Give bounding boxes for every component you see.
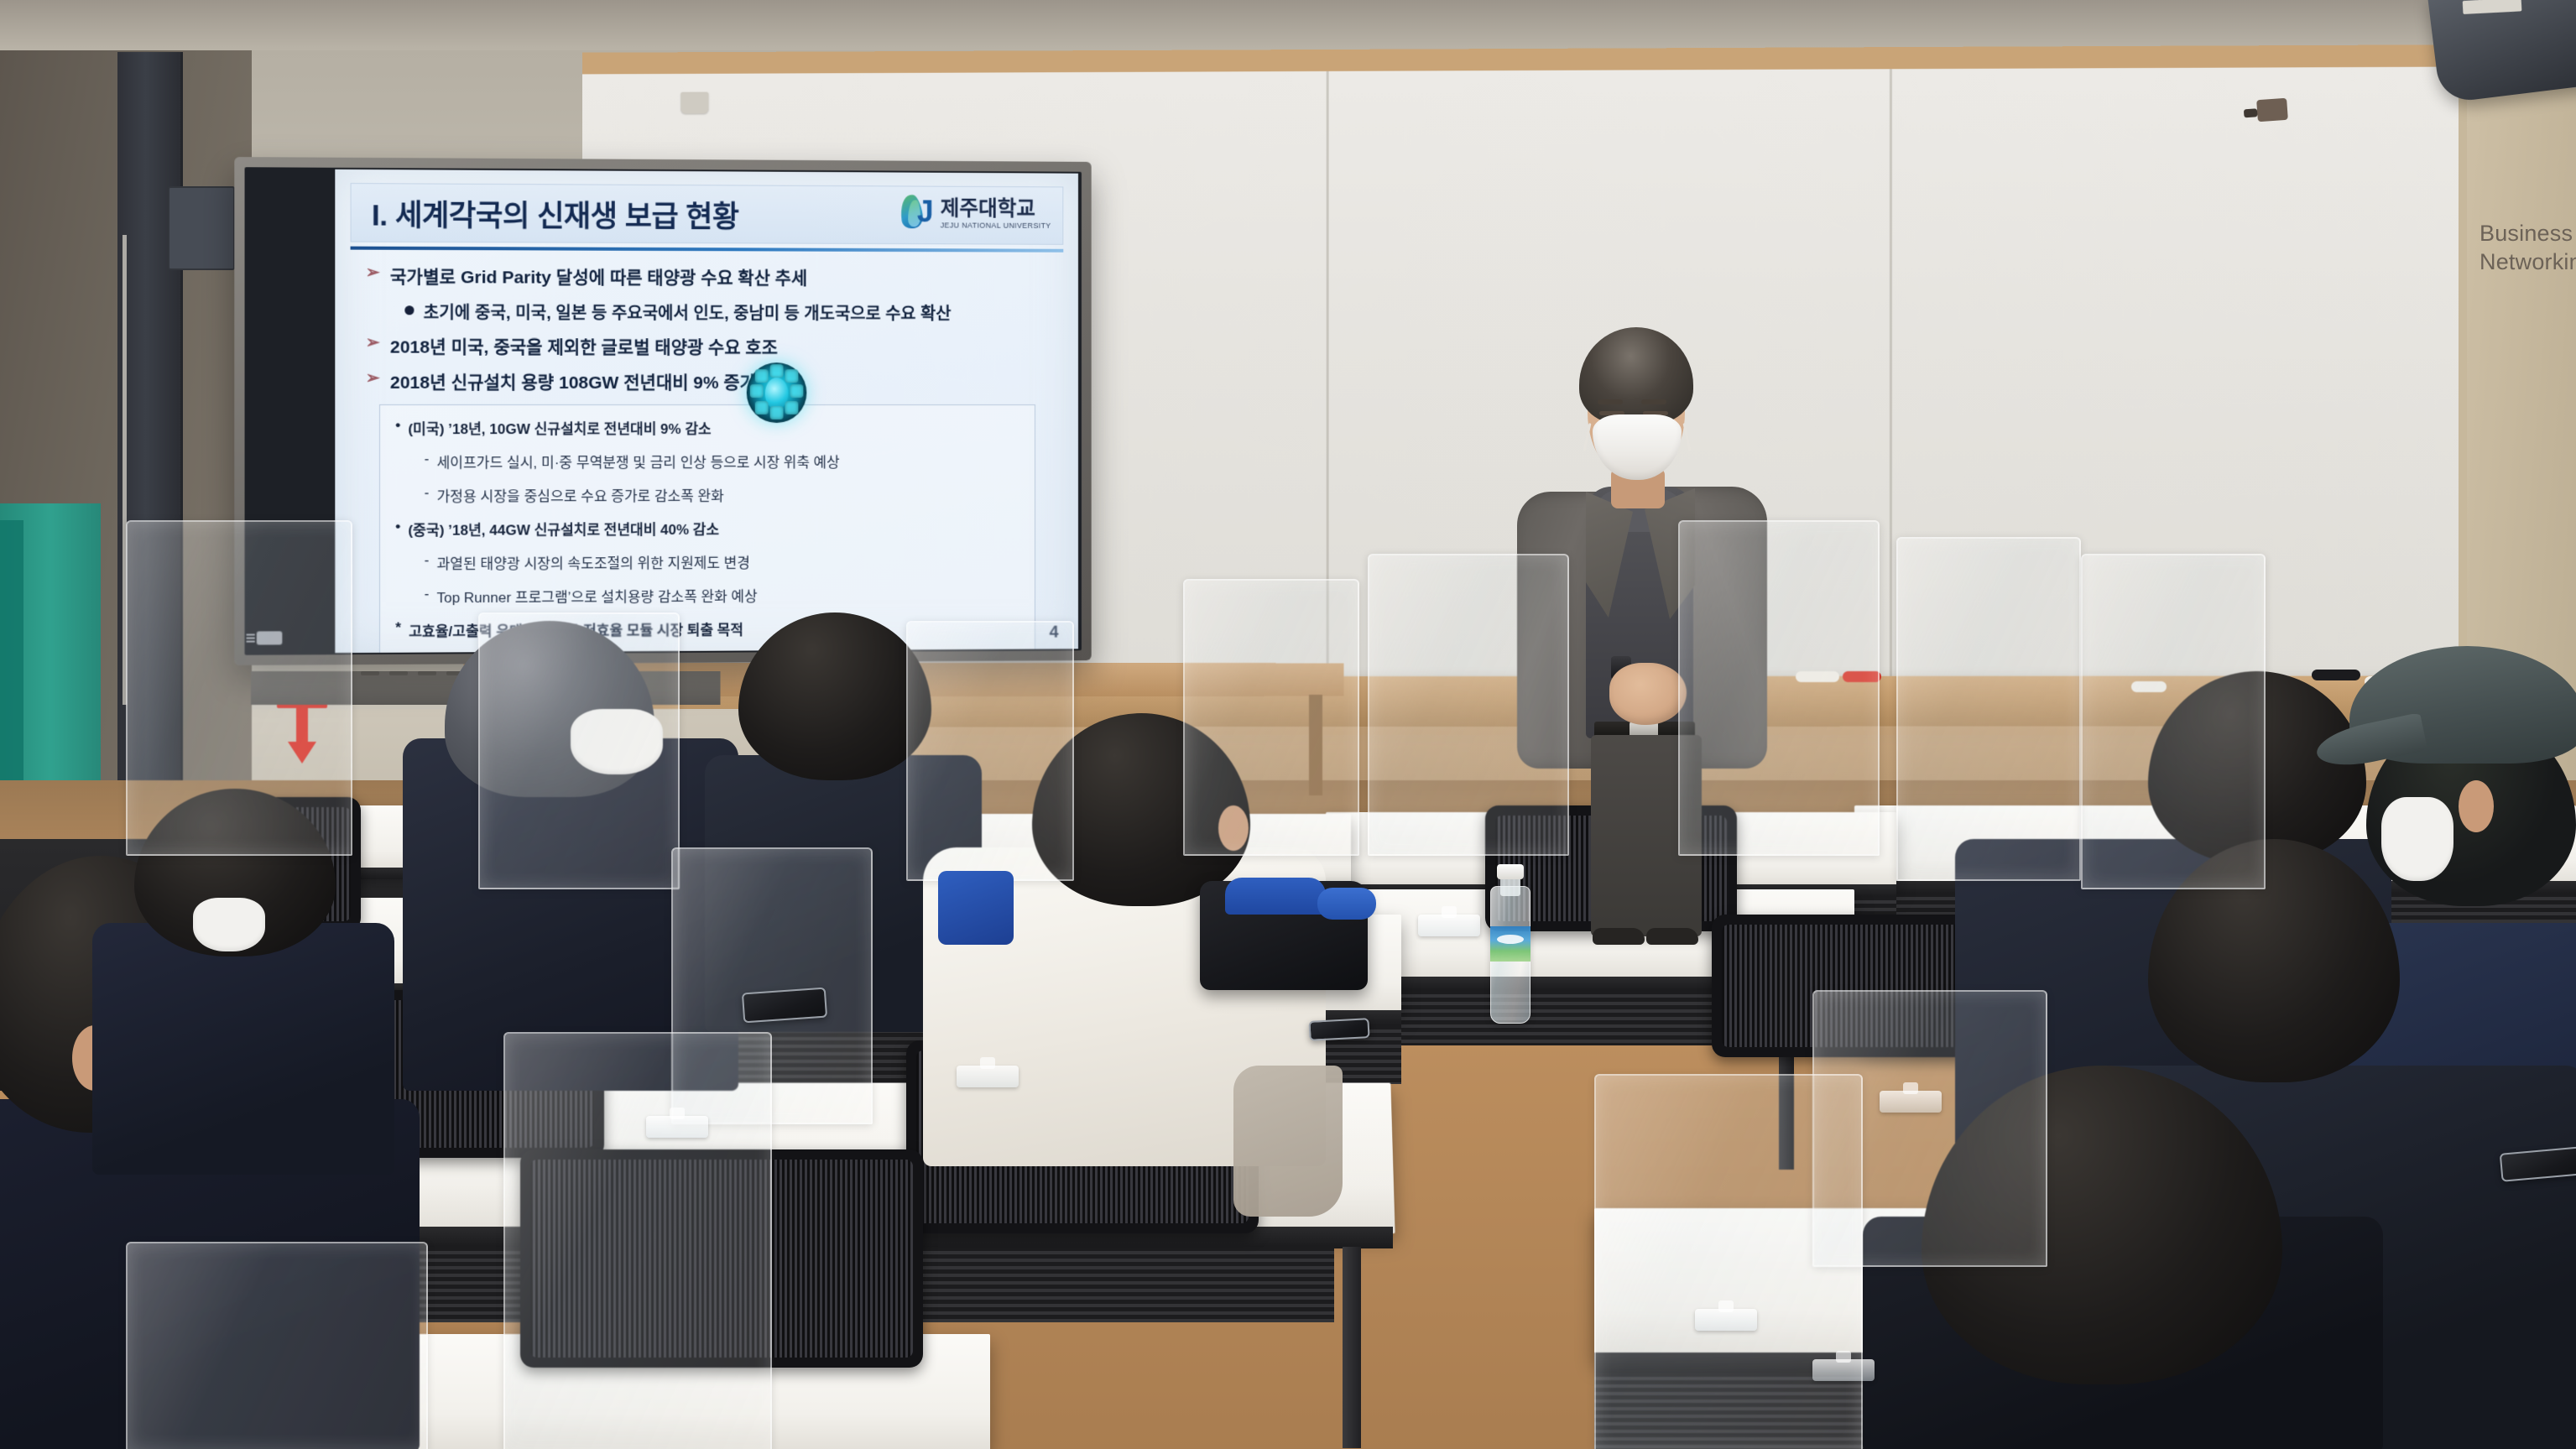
dash-bullet-icon: - bbox=[425, 484, 430, 501]
slide-subbullet: 초기에 중국, 미국, 일본 등 주요국에서 인도, 중남미 등 개도국으로 수… bbox=[404, 299, 1063, 325]
backpack-strap bbox=[1225, 878, 1326, 915]
desk-leg bbox=[1343, 1247, 1361, 1448]
ac-label bbox=[2463, 0, 2522, 14]
presenter-eyebrow-right bbox=[1641, 399, 1666, 404]
ear bbox=[2459, 780, 2494, 832]
acrylic-divider bbox=[1594, 1074, 1863, 1449]
arrow-bullet-icon: ➢ bbox=[366, 369, 380, 388]
slide-title: I. 세계각국의 신재생 보급 현황 bbox=[372, 191, 739, 236]
panel-row: - 세이프가드 실시, 미·중 무역분쟁 및 금리 인상 등으로 시장 위축 예… bbox=[425, 451, 1019, 472]
ceiling-ac-unit bbox=[2427, 0, 2576, 104]
logo-letter-j: J bbox=[917, 196, 934, 227]
presenter-face-mask bbox=[1593, 414, 1682, 480]
presenter-shoe-left bbox=[1593, 928, 1645, 945]
projector-glare-emblem-icon bbox=[747, 362, 807, 423]
face-mask bbox=[2381, 797, 2453, 881]
jacket-on-chair bbox=[1233, 1066, 1343, 1217]
acrylic-divider bbox=[2081, 554, 2266, 889]
university-name-kr: 제주대학교 bbox=[941, 198, 1051, 219]
panel-row-text: (미국) ’18년, 10GW 신규설치로 전년대비 9% 감소 bbox=[408, 417, 711, 438]
acrylic-divider bbox=[126, 1242, 428, 1449]
bullet-dot-icon: • bbox=[395, 417, 400, 434]
panel-row-text: 가정용 시장을 중심으로 수요 증가로 감소폭 완화 bbox=[436, 484, 723, 506]
slide-bullet: ➢ 2018년 미국, 중국을 제외한 글로벌 태양광 수요 호조 bbox=[366, 333, 1064, 359]
acrylic-divider bbox=[126, 520, 352, 856]
acrylic-divider bbox=[478, 612, 680, 889]
wall-sign-line-2: Networking bbox=[2480, 248, 2576, 277]
wall-display[interactable]: I. 세계각국의 신재생 보급 현황 J 제주대학교 JEJU NATIONAL… bbox=[234, 157, 1091, 665]
asterisk-bullet-icon: * bbox=[395, 620, 401, 637]
slide-bullet-text: 2018년 미국, 중국을 제외한 글로벌 태양광 수요 호조 bbox=[390, 333, 778, 359]
dash-bullet-icon: - bbox=[425, 451, 430, 467]
blue-bag bbox=[938, 871, 1014, 945]
dash-bullet-icon: - bbox=[425, 586, 430, 602]
divider-foot bbox=[1418, 915, 1480, 936]
presenter-hair bbox=[1579, 327, 1693, 425]
acrylic-divider bbox=[503, 1032, 772, 1449]
panel-row-text: Top Runner 프로그램’으로 설치용량 감소폭 완화 예상 bbox=[436, 585, 757, 607]
slide-title-bar: I. 세계각국의 신재생 보급 현황 J 제주대학교 JEJU NATIONAL… bbox=[351, 183, 1064, 245]
acrylic-divider bbox=[906, 621, 1074, 881]
student-behind-left-body bbox=[92, 923, 394, 1175]
panel-row: • (중국) ’18년, 44GW 신규설치로 전년대비 40% 감소 bbox=[395, 517, 1018, 539]
bottle-label bbox=[1490, 926, 1530, 962]
classroom-scene: Business Networking 소화기 I. 세계각국의 신재생 bbox=[0, 0, 2576, 1449]
wall-junction-box bbox=[168, 186, 235, 270]
slide-bullet-text: 국가별로 Grid Parity 달성에 따른 태양광 수요 확산 추세 bbox=[390, 263, 807, 290]
display-screen: I. 세계각국의 신재생 보급 현황 J 제주대학교 JEJU NATIONAL… bbox=[245, 167, 1082, 655]
panel-row-text: (중국) ’18년, 44GW 신규설치로 전년대비 40% 감소 bbox=[408, 518, 719, 539]
dot-bullet-icon bbox=[404, 305, 414, 315]
arrow-bullet-icon: ➢ bbox=[366, 333, 380, 352]
backpack-strap-2 bbox=[1317, 888, 1376, 920]
panel-row-text: 과열된 태양광 시장의 속도조절의 위한 지원제도 변경 bbox=[436, 551, 749, 573]
green-wall-panel-edge bbox=[0, 520, 23, 797]
acrylic-divider bbox=[1183, 579, 1359, 856]
slide-bullet-text: 2018년 신규설치 용량 108GW 전년대비 9% 증가 bbox=[390, 369, 756, 394]
dash-bullet-icon: - bbox=[425, 552, 430, 569]
panel-row: - 가정용 시장을 중심으로 수요 증가로 감소폭 완화 bbox=[425, 483, 1019, 505]
bullet-dot-icon: • bbox=[395, 519, 400, 535]
acrylic-divider bbox=[1896, 537, 2081, 881]
acrylic-divider bbox=[1678, 520, 1880, 856]
arrow-bullet-icon: ➢ bbox=[366, 263, 380, 282]
whiteboard-clip bbox=[681, 92, 708, 114]
slide-title-rule bbox=[351, 247, 1064, 253]
smartphone-on-desk[interactable] bbox=[742, 988, 827, 1024]
slide-bullet: ➢ 국가별로 Grid Parity 달성에 따른 태양광 수요 확산 추세 bbox=[366, 263, 1064, 291]
divider-foot bbox=[957, 1066, 1019, 1087]
water-bottle[interactable] bbox=[1487, 864, 1534, 1024]
face-mask bbox=[193, 898, 265, 951]
panel-row-text: 세이프가드 실시, 미·중 무역분쟁 및 금리 인상 등으로 시장 위축 예상 bbox=[436, 451, 839, 472]
wall-sign: Business Networking bbox=[2480, 220, 2576, 277]
university-name-en: JEJU NATIONAL UNIVERSITY bbox=[941, 222, 1051, 229]
divider-foot bbox=[1695, 1309, 1757, 1331]
slide-bullet: ➢ 2018년 신규설치 용량 108GW 전년대비 9% 증가 bbox=[366, 369, 1064, 395]
panel-row: - Top Runner 프로그램’으로 설치용량 감소폭 완화 예상 bbox=[425, 583, 1019, 607]
panel-row: • (미국) ’18년, 10GW 신규설치로 전년대비 9% 감소 bbox=[395, 417, 1018, 438]
whiteboard-seam bbox=[1890, 69, 1892, 713]
slide-subbullet-text: 초기에 중국, 미국, 일본 등 주요국에서 인도, 중남미 등 개도국으로 수… bbox=[424, 299, 952, 324]
bottle-cap[interactable] bbox=[1497, 864, 1524, 879]
presenter-shoe-right bbox=[1646, 928, 1698, 945]
slide-bullet-list: ➢ 국가별로 Grid Parity 달성에 따른 태양광 수요 확산 추세 초… bbox=[351, 263, 1064, 394]
acrylic-divider bbox=[1368, 554, 1569, 856]
presentation-slide: I. 세계각국의 신재생 보급 현황 J 제주대학교 JEJU NATIONAL… bbox=[335, 169, 1078, 653]
whiteboard-eraser[interactable] bbox=[2312, 670, 2360, 680]
divider-foot bbox=[1880, 1091, 1942, 1113]
jeju-flame-icon: J bbox=[897, 193, 935, 233]
ceiling-sensor-icon bbox=[2256, 98, 2288, 122]
smartphone-on-desk-2[interactable] bbox=[1308, 1018, 1369, 1041]
divider-foot bbox=[1812, 1359, 1875, 1381]
divider-foot bbox=[646, 1116, 708, 1138]
wall-sign-line-1: Business bbox=[2480, 220, 2576, 248]
presenter-eyebrow-left bbox=[1598, 399, 1623, 404]
university-logo: J 제주대학교 JEJU NATIONAL UNIVERSITY bbox=[897, 193, 1051, 233]
panel-row: - 과열된 태양광 시장의 속도조절의 위한 지원제도 변경 bbox=[425, 550, 1019, 573]
